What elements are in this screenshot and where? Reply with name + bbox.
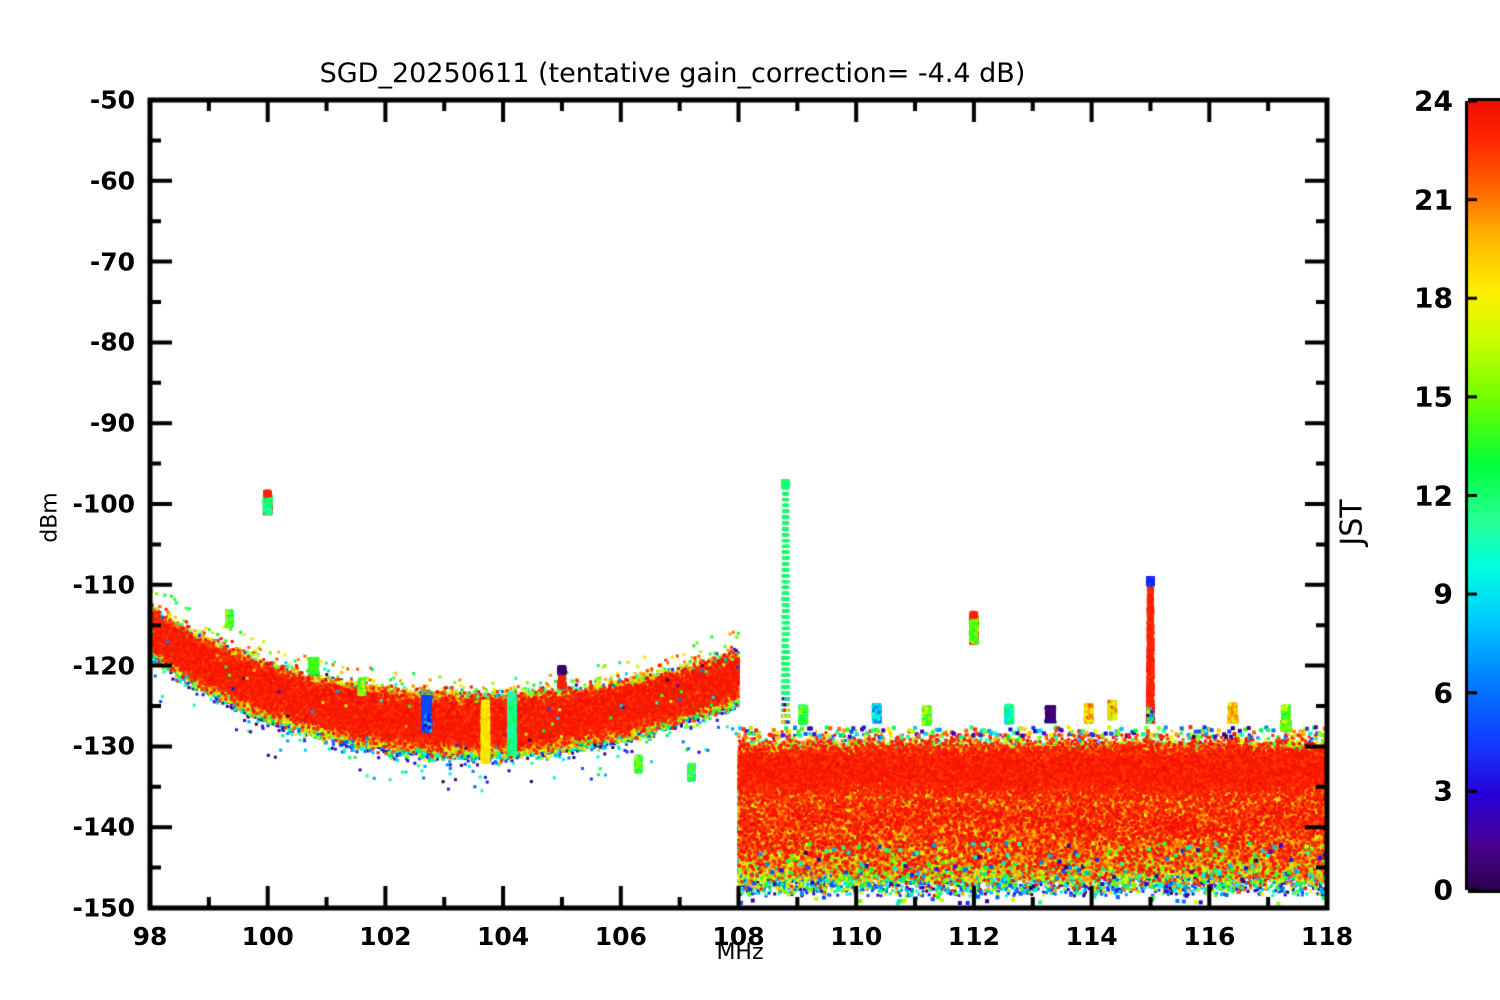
colorbar-tick-label: 3 [1393,775,1453,808]
x-tick-label: 98 [100,922,200,951]
colorbar-tick-label: 6 [1393,676,1453,709]
colorbar-tick-label: 15 [1393,380,1453,413]
y-tick-label: -60 [45,166,135,195]
y-tick-label: -150 [45,894,135,923]
y-tick-label: -130 [45,732,135,761]
spectrum-plot-canvas [0,0,1500,1000]
colorbar-tick-label: 21 [1393,183,1453,216]
x-tick-label: 118 [1277,922,1377,951]
y-tick-label: -100 [45,490,135,519]
x-tick-label: 110 [806,922,906,951]
figure-root: SGD_20250611 (tentative gain_correction=… [0,0,1500,1000]
y-tick-label: -120 [45,651,135,680]
x-tick-label: 116 [1159,922,1259,951]
page-title: SGD_20250611 (tentative gain_correction=… [0,58,1345,89]
colorbar-tick-label: 0 [1393,874,1453,907]
y-tick-label: -50 [45,86,135,115]
x-tick-label: 104 [453,922,553,951]
x-tick-label: 112 [924,922,1024,951]
colorbar-tick-label: 18 [1393,282,1453,315]
x-tick-label: 106 [571,922,671,951]
x-tick-label: 108 [689,922,789,951]
y-tick-label: -80 [45,328,135,357]
x-tick-label: 100 [218,922,318,951]
y-tick-label: -90 [45,409,135,438]
colorbar-tick-label: 9 [1393,578,1453,611]
colorbar-label: JST [1335,463,1370,583]
y-tick-label: -70 [45,247,135,276]
colorbar-tick-label: 12 [1393,479,1453,512]
x-tick-label: 114 [1042,922,1142,951]
y-tick-label: -110 [45,570,135,599]
colorbar-tick-label: 24 [1393,85,1453,118]
x-tick-label: 102 [335,922,435,951]
y-tick-label: -140 [45,813,135,842]
